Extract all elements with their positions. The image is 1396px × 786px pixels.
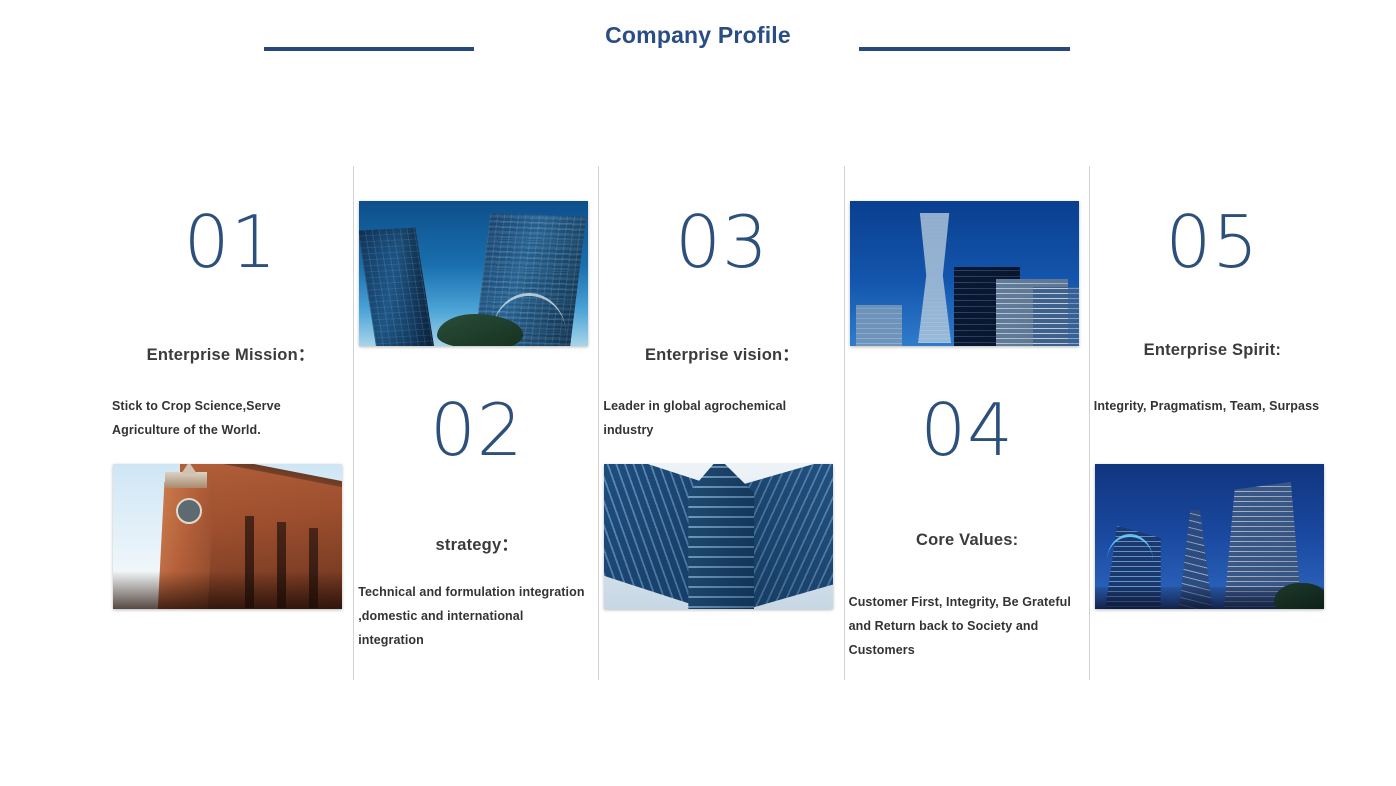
header-rule-right (859, 47, 1070, 51)
column-photo-03 (599, 464, 833, 609)
photo-glass-tower-corner (604, 464, 833, 609)
column-photo-05 (1090, 464, 1324, 609)
photo-shape-twisted-tower (912, 213, 958, 343)
profile-columns: 01 Enterprise Mission： Stick to Crop Sci… (108, 166, 1334, 680)
photo-shape-night-tree (1274, 583, 1324, 609)
photo-shape-tower-cap (165, 472, 207, 488)
column-photo-04 (845, 201, 1079, 346)
column-heading-03: Enterprise vision： (599, 341, 844, 365)
photo-night-skyline (1095, 464, 1324, 609)
profile-column-4: 04 Core Values: Customer First, Integrit… (844, 166, 1089, 680)
page-title: Company Profile (0, 22, 1396, 49)
column-body-05: Integrity, Pragmatism, Team, Surpass (1090, 395, 1330, 419)
photo-two-glass-skyscrapers (359, 201, 588, 346)
column-heading-01: Enterprise Mission： (108, 341, 353, 365)
column-body-04: Customer First, Integrity, Be Grateful a… (845, 591, 1085, 662)
profile-column-5: 05 Enterprise Spirit: Integrity, Pragmat… (1089, 166, 1334, 680)
column-number-04: 04 (845, 394, 1090, 466)
column-photo-02 (354, 201, 588, 346)
photo-shape-facade-center (688, 464, 754, 609)
photo-shape-tower-left (359, 228, 434, 346)
profile-column-3: 03 Enterprise vision： Leader in global a… (598, 166, 843, 680)
column-body-01: Stick to Crop Science,Serve Agriculture … (108, 395, 345, 443)
column-heading-02: strategy： (354, 531, 599, 555)
photo-shape-building-right (1033, 287, 1079, 346)
column-heading-04: Core Values: (845, 531, 1090, 550)
clock-face-icon (176, 498, 202, 524)
column-body-03: Leader in global agrochemical industry (599, 395, 836, 443)
column-number-03: 03 (599, 206, 844, 278)
column-number-01: 01 (108, 206, 353, 278)
column-body-02: Technical and formulation integration ,d… (354, 581, 591, 652)
column-number-05: 05 (1090, 206, 1335, 278)
column-photo-01 (108, 464, 342, 609)
photo-shape-shadow (113, 571, 342, 609)
photo-cbd-skyline (850, 201, 1079, 346)
column-number-02: 02 (354, 394, 599, 466)
photo-shape-spire (181, 464, 197, 474)
profile-column-1: 01 Enterprise Mission： Stick to Crop Sci… (108, 166, 353, 680)
photo-shape-window-grid-left (359, 228, 434, 346)
profile-column-2: 02 strategy： Technical and formulation i… (353, 166, 598, 680)
column-heading-05: Enterprise Spirit: (1090, 341, 1335, 360)
photo-brick-clock-tower (113, 464, 342, 609)
page-header: Company Profile (0, 0, 1396, 72)
photo-shape-building-small-left (856, 305, 902, 346)
